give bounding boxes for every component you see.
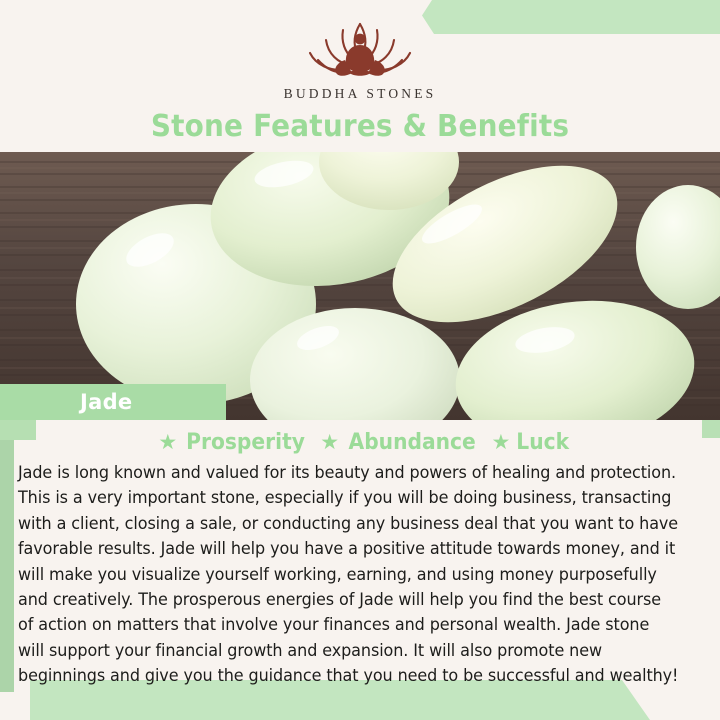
keyword-abundance: Abundance [349, 430, 476, 455]
lotus-meditation-icon [300, 20, 420, 82]
keyword-row: ★Prosperity★Abundance★Luck [0, 430, 720, 455]
keyword-luck: Luck [517, 430, 570, 455]
stone-name-label: Jade [80, 390, 132, 414]
jade-stones-photo [0, 152, 720, 420]
page-title: Stone Features & Benefits [25, 109, 695, 144]
star-icon: ★ [491, 430, 510, 454]
star-icon: ★ [320, 430, 339, 454]
top-right-green-accent [410, 0, 720, 34]
keyword-prosperity: Prosperity [186, 430, 305, 455]
infographic-page: Jade [0, 0, 720, 720]
description-text: Jade is long known and valued for its be… [18, 460, 680, 689]
star-icon: ★ [158, 430, 177, 454]
brand-name: BUDDHA STONES [284, 86, 437, 102]
stone-name-band: Jade [0, 384, 226, 420]
